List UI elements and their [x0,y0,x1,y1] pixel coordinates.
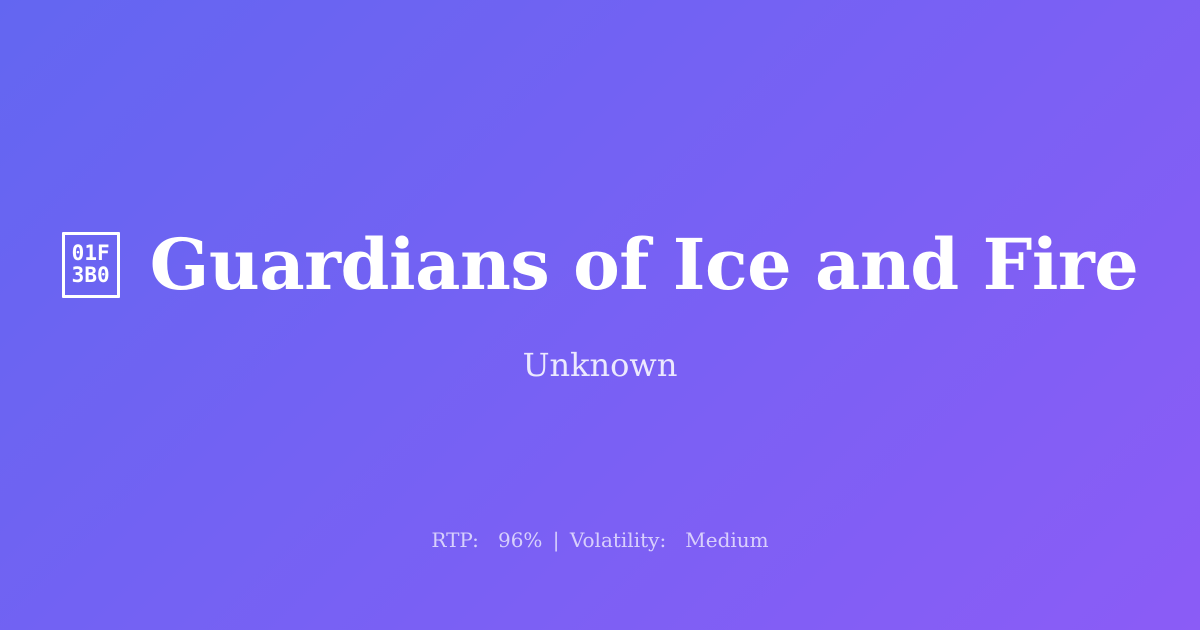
rtp-value: 96% [498,528,542,552]
hero-block: 01F 3B0 Guardians of Ice and Fire Unknow… [0,228,1200,384]
og-share-card: 01F 3B0 Guardians of Ice and Fire Unknow… [0,0,1200,630]
page-title: Guardians of Ice and Fire [150,228,1139,302]
page-subtitle: Unknown [523,346,678,384]
tofu-codepoint-row-top: 01F [72,243,110,264]
tofu-codepoint-row-bottom: 3B0 [72,265,110,286]
meta-separator: | [549,528,564,552]
slot-machine-emoji-missing-glyph-icon: 01F 3B0 [62,232,120,298]
title-row: 01F 3B0 Guardians of Ice and Fire [0,228,1200,302]
game-meta-line: RTP: 96% | Volatility: Medium [0,528,1200,552]
rtp-label: RTP: [431,528,479,552]
volatility-value: Medium [685,528,768,552]
volatility-label: Volatility: [570,528,666,552]
